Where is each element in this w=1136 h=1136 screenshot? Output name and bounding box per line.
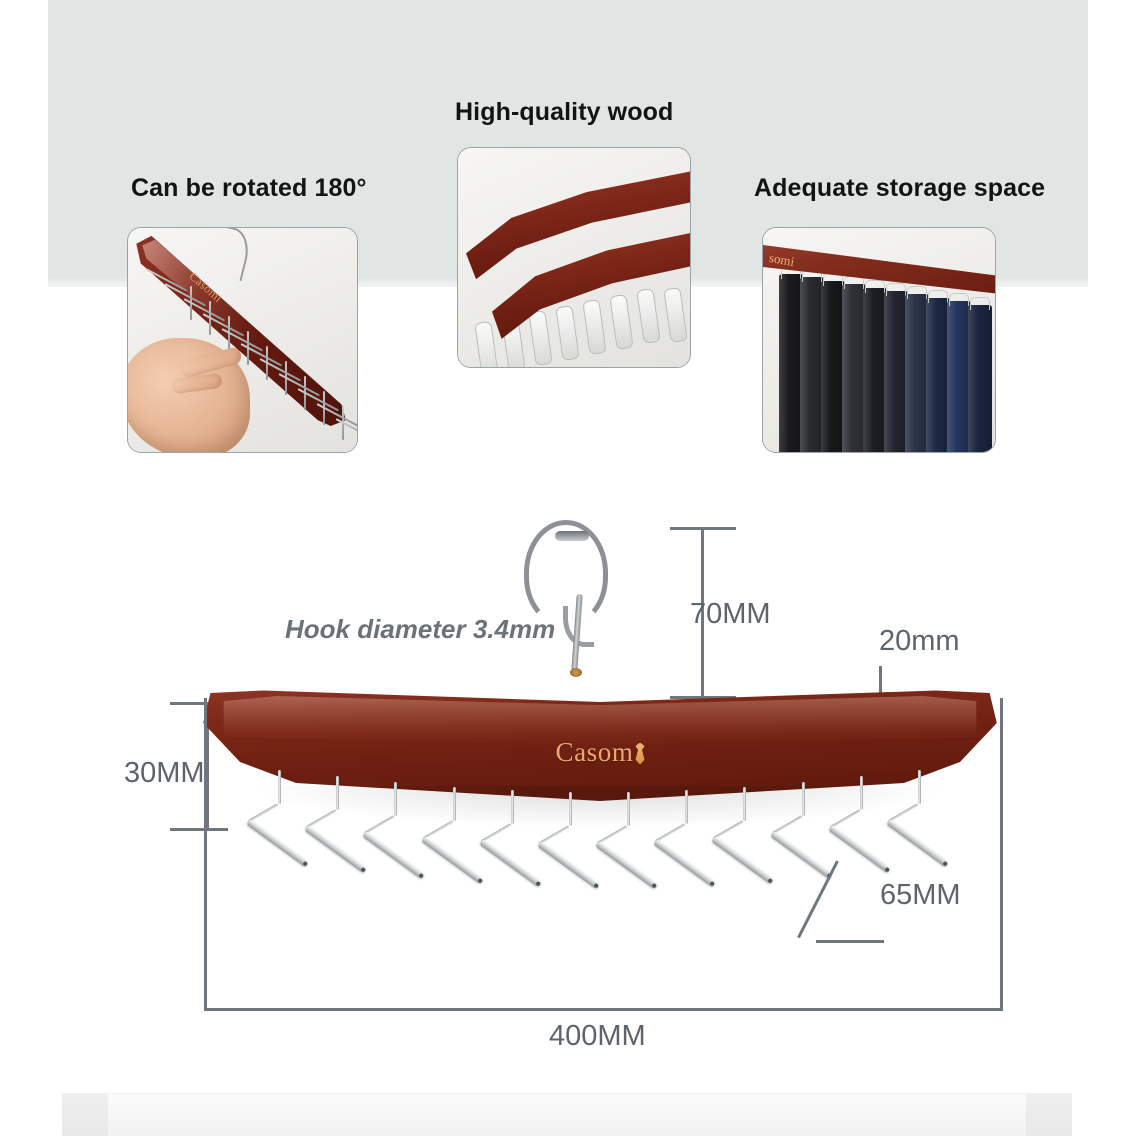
tie-arm-riser [627,792,630,826]
feature-title-wood: High-quality wood [455,98,673,127]
tie-arm-riser [453,787,456,821]
dim-label-400mm: 400MM [549,1020,646,1053]
tie-clip [928,290,948,303]
tie-arm-prong [595,840,659,889]
dim-label-20mm: 20mm [879,625,960,658]
necktie [968,305,992,453]
bottom-edge-object [62,1093,1072,1136]
tie-arm-riser [511,790,514,824]
dim-400mm-ext-left [204,698,207,1010]
tie-arm-prong [711,835,775,884]
dim-label-30mm: 30MM [124,757,205,790]
feature-photo-storage: somi [762,227,996,453]
tie-arm-riser [860,776,863,810]
tie-arm-riser [336,776,339,810]
tie-arm-riser [918,770,921,804]
dim-label-70mm: 70MM [690,598,771,631]
dim-400mm-line [204,1008,1003,1011]
tie-arm-riser [743,787,746,821]
tie-arm-prong [537,840,601,889]
dim-65mm-tick [816,940,884,943]
necktie-icon [636,743,645,765]
tie-clip [970,297,990,310]
tie-clip [886,283,906,296]
tie-arm-riser [278,770,281,804]
hook-base-screw [570,668,582,677]
brand-logo: Casom [555,737,644,768]
tie-arm-prong [653,839,717,888]
dim-65mm-line [797,860,839,938]
brand-name: Casom [555,737,633,767]
tie-arm-riser [685,790,688,824]
dim-400mm-ext-right [1000,698,1003,1010]
hanger-shadow [248,786,952,828]
tie-arm-riser [394,782,397,816]
tie-clip [844,276,864,289]
hanger-hook [520,520,630,690]
tie-clip [907,286,927,299]
tie-clip [865,280,885,293]
dim-label-65mm: 65MM [880,879,961,912]
feature-title-storage: Adequate storage space [754,174,1045,203]
feature-title-rotate: Can be rotated 180° [131,174,367,203]
feature-photo-rotate: Casomi [127,227,358,453]
tie-arm-prong [479,839,543,888]
tie-arm-prong [420,835,484,884]
dimension-diagram: Hook diameter 3.4mm 70MM 20mm 30MM Casom… [0,470,1136,1090]
tie-arm-riser [569,792,572,826]
infographic-page: Can be rotated 180° High-quality wood Ad… [0,0,1136,1136]
tie-arm-riser [802,782,805,816]
tie-clip [949,293,969,306]
feature-photo-wood [457,147,691,368]
hook-diameter-note: Hook diameter 3.4mm [285,614,555,645]
tie-sheen [968,305,992,453]
hook-icon [210,227,253,281]
